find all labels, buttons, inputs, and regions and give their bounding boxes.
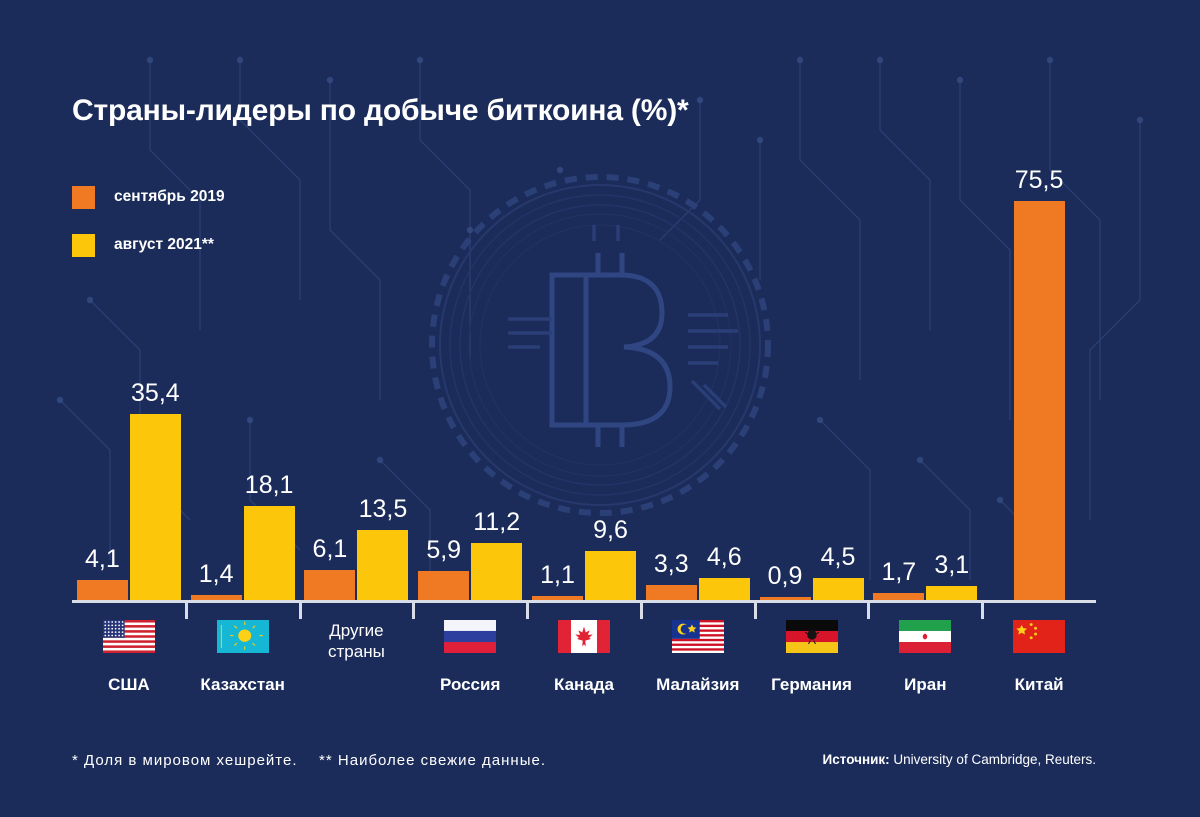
axis-tick (640, 603, 643, 619)
bar-sept-2019 (1014, 201, 1065, 602)
bar-sept-2019 (304, 570, 355, 602)
flag-germany-icon (786, 620, 838, 653)
bar-aug-2021 (813, 578, 864, 602)
country-axis-item: Канада (527, 620, 641, 695)
axis-tick (981, 603, 984, 619)
country-name-label: Малайзия (641, 675, 755, 695)
footnote-text: * Доля в мировом хешрейте. ** Наиболее с… (72, 752, 546, 769)
flag-china-icon (1013, 620, 1065, 653)
source-value: University of Cambridge, Reuters. (893, 752, 1096, 767)
flag-kazakhstan-icon (217, 620, 269, 653)
bar-group: 1,73,1 (868, 140, 982, 602)
bar-group: 4,135,4 (72, 140, 186, 602)
bar-aug-2021 (585, 551, 636, 602)
country-axis-item: Другиестраны (300, 620, 414, 662)
axis-tick (185, 603, 188, 619)
bar-group: 1,418,1 (186, 140, 300, 602)
bar-aug-2021 (130, 414, 181, 602)
bar-value-label: 1,1 (526, 563, 589, 588)
bar-aug-2021 (471, 543, 522, 602)
country-name-label: Канада (527, 675, 641, 695)
country-axis-item: Германия (755, 620, 869, 695)
bar-group: 6,113,5 (300, 140, 414, 602)
bar-value-label: 9,6 (579, 518, 642, 543)
flag-usa-icon (103, 620, 155, 653)
footnote-note1: * Доля в мировом хешрейте. (72, 752, 298, 769)
country-name-label: Китай (982, 675, 1096, 695)
bar-group: 5,911,2 (413, 140, 527, 602)
flag-malaysia-icon (672, 620, 724, 653)
axis-tick (299, 603, 302, 619)
infographic-root: Страны-лидеры по добыче биткоина (%)* се… (0, 0, 1200, 817)
country-name-label: США (72, 675, 186, 695)
country-axis-item: Китай (982, 620, 1096, 695)
flag-canada-icon (558, 620, 610, 653)
bar-value-label: 18,1 (238, 473, 301, 498)
country-name-label: Россия (413, 675, 527, 695)
country-name-label: Казахстан (186, 675, 300, 695)
country-name-label: Иран (868, 675, 982, 695)
bar-aug-2021 (357, 530, 408, 602)
bar-value-label: 1,4 (185, 562, 248, 587)
axis-tick (412, 603, 415, 619)
flag-russia-icon (444, 620, 496, 653)
country-name-label: Германия (755, 675, 869, 695)
bar-group: 0,94,5 (755, 140, 869, 602)
footnote-note2: ** Наиболее свежие данные. (319, 752, 546, 769)
axis-tick (754, 603, 757, 619)
country-axis-labels: СШАКазахстанДругиестраныРоссияКанадаМала… (72, 620, 1096, 720)
bar-value-label: 13,5 (351, 497, 414, 522)
country-axis-item: США (72, 620, 186, 695)
axis-tick (867, 603, 870, 619)
bar-sept-2019 (418, 571, 469, 602)
bar-group: 1,19,6 (527, 140, 641, 602)
chart-baseline-axis (72, 600, 1096, 603)
country-axis-item: Россия (413, 620, 527, 695)
bar-value-label: 6,1 (298, 537, 361, 562)
bar-aug-2021 (244, 506, 295, 602)
bar-value-label: 5,9 (412, 538, 475, 563)
bar-group: 75,5 (982, 140, 1096, 602)
country-name-label: Другиестраны (300, 620, 414, 662)
bar-value-label: 4,5 (807, 545, 870, 570)
bar-value-label: 4,1 (71, 547, 134, 572)
bar-group: 3,34,6 (641, 140, 755, 602)
bar-aug-2021 (699, 578, 750, 602)
axis-tick (526, 603, 529, 619)
bar-value-label: 3,1 (920, 553, 983, 578)
flag-iran-icon (899, 620, 951, 653)
bar-value-label: 4,6 (693, 545, 756, 570)
country-axis-item: Иран (868, 620, 982, 695)
country-axis-item: Казахстан (186, 620, 300, 695)
bar-sept-2019 (77, 580, 128, 602)
bar-value-label: 35,4 (124, 381, 187, 406)
page-title: Страны-лидеры по добыче биткоина (%)* (72, 94, 688, 128)
bar-chart-plot-area: 4,135,41,418,16,113,55,911,21,19,63,34,6… (72, 140, 1096, 602)
bar-value-label: 11,2 (465, 510, 528, 535)
bar-value-label: 75,5 (1008, 168, 1071, 193)
country-axis-item: Малайзия (641, 620, 755, 695)
source-label: Источник: (823, 752, 890, 767)
source-text: Источник: University of Cambridge, Reute… (823, 752, 1096, 767)
